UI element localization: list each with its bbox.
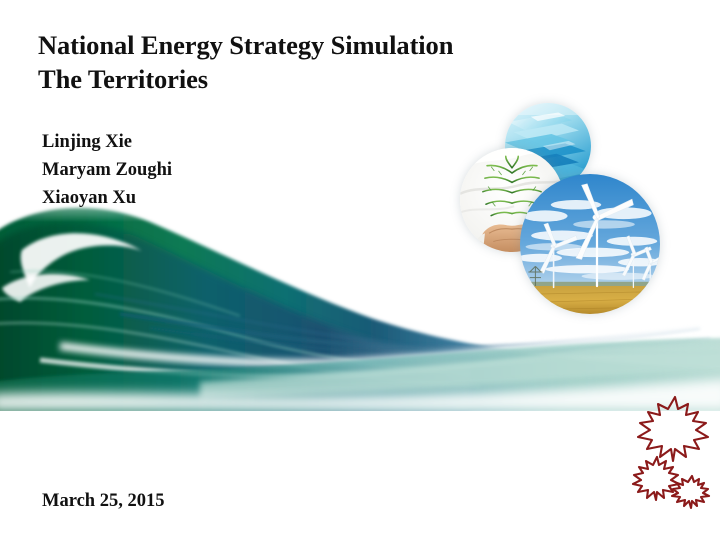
presentation-slide: National Energy Strategy Simulation The … — [0, 0, 720, 540]
page-title: National Energy Strategy Simulation The … — [38, 28, 558, 97]
title-line-1: National Energy Strategy Simulation — [38, 28, 558, 62]
maple-leaf-trio — [630, 393, 712, 515]
author-name: Linjing Xie — [42, 128, 172, 156]
photo-cluster — [452, 96, 670, 318]
date-block: March 25, 2015 — [42, 491, 164, 512]
title-line-2: The Territories — [38, 62, 558, 96]
wind-turbines-photo — [520, 174, 660, 314]
author-name: Maryam Zoughi — [42, 156, 172, 184]
author-name: Xiaoyan Xu — [42, 184, 172, 212]
presentation-date: March 25, 2015 — [42, 491, 164, 512]
author-list: Linjing Xie Maryam Zoughi Xiaoyan Xu — [42, 128, 172, 212]
